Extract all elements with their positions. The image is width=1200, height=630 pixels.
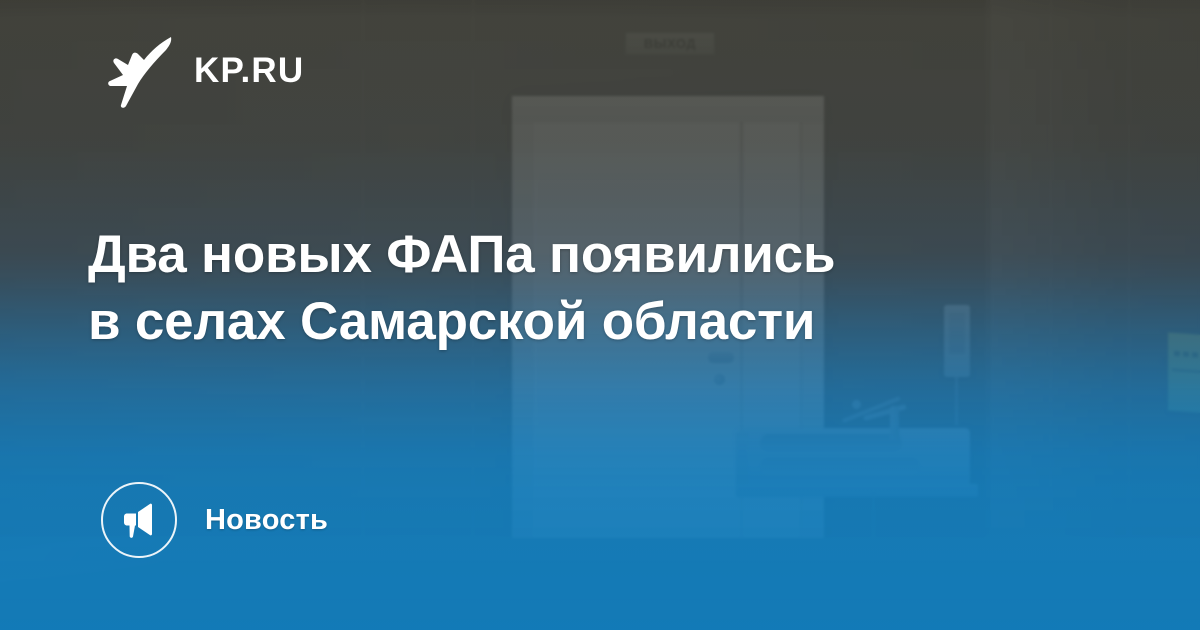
headline-line-1: Два новых ФАПа появились <box>88 222 988 289</box>
brand-lockup[interactable]: KP.RU <box>108 34 304 108</box>
status-badge[interactable]: Новость <box>101 482 328 558</box>
megaphone-icon <box>119 500 159 540</box>
headline-line-2: в селах Самарской области <box>88 289 988 356</box>
card-content: KP.RU Два новых ФАПа появились в селах С… <box>0 0 1200 630</box>
badge-icon-circle <box>101 482 177 558</box>
news-share-card: ВЫХОД <box>0 0 1200 630</box>
swallow-bird-icon <box>108 34 172 108</box>
page-title: Два новых ФАПа появились в селах Самарск… <box>88 222 988 356</box>
brand-name: KP.RU <box>194 51 304 91</box>
badge-label: Новость <box>205 504 328 537</box>
